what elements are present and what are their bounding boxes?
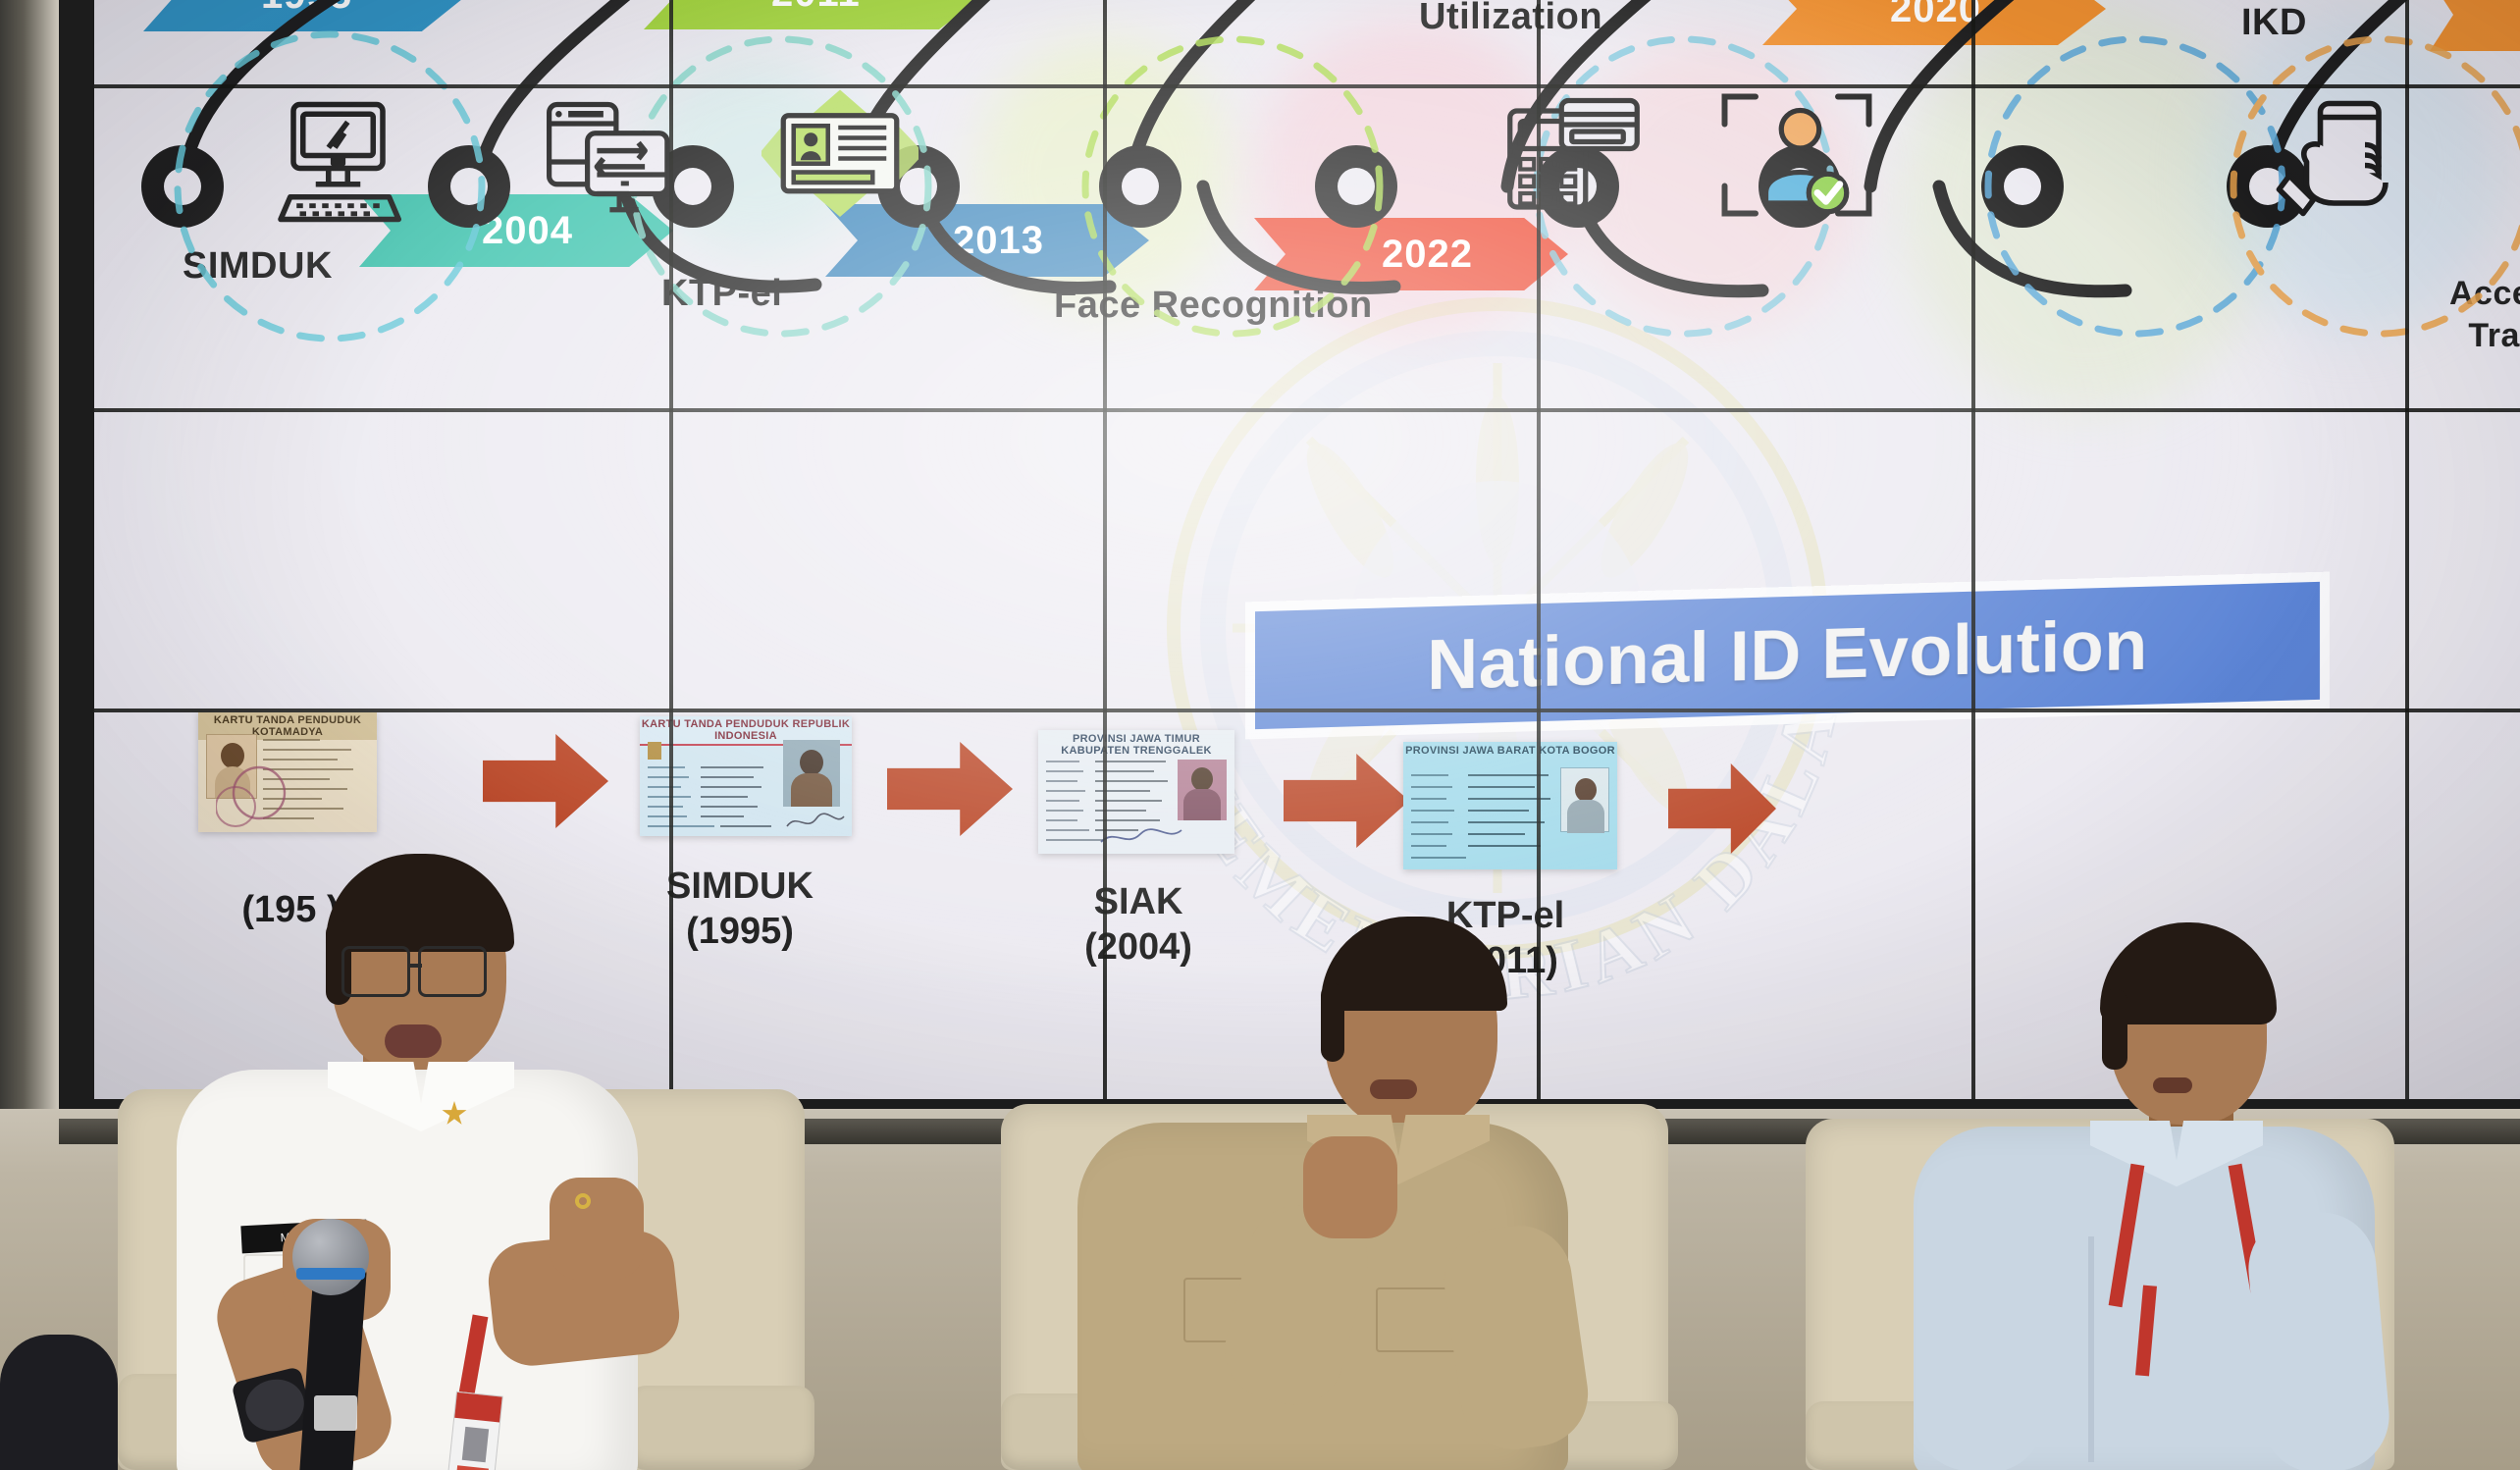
- panelist-right-arm-right: [2244, 1208, 2394, 1470]
- desktop-computer-icon: [261, 98, 428, 226]
- panelist-left-hair: [326, 854, 514, 952]
- videowall-seam-horizontal: [94, 84, 2520, 88]
- videowall-seam-vertical: [2405, 0, 2409, 1099]
- id-card-4-header: PROVINSI JAWA BARAT KOTA BOGOR: [1403, 742, 1617, 760]
- videowall-seam-horizontal: [94, 408, 2520, 412]
- panelist-left-ring: [575, 1193, 591, 1209]
- timeline-infographic: 1995 2011 2020 2004 2013 2022 Utilizat: [94, 0, 2520, 608]
- microphone-label: [314, 1395, 357, 1431]
- panelist-left-mouth: [385, 1024, 442, 1058]
- id-card-3-header: PROVINSI JAWA TIMUR KABUPATEN TRENGGALEK: [1038, 730, 1234, 760]
- evolution-arrow-3: [1284, 754, 1409, 848]
- evolution-arrow-1: [483, 734, 608, 828]
- panelist-left-id-badge: [446, 1391, 503, 1470]
- videowall-seam-horizontal: [94, 709, 2520, 712]
- panelist-center-hand-chin: [1303, 1136, 1397, 1238]
- id-card-4-photo: [1560, 767, 1609, 832]
- id-card-4-fields: [1409, 771, 1556, 864]
- id-card-1: KARTU TANDA PENDUDUK KOTAMADYA: [198, 712, 377, 832]
- panelist-right-mouth: [2153, 1077, 2192, 1093]
- id-card-2-fields: [646, 761, 773, 832]
- evolution-arrow-4: [1668, 763, 1776, 854]
- id-card-3-photo: [1178, 760, 1227, 820]
- data-sync-devices-icon: [538, 98, 685, 226]
- panelist-center-hair: [1321, 917, 1507, 1011]
- panelist-left-hand-gesture: [550, 1178, 644, 1280]
- panelist-center-mouth: [1370, 1079, 1417, 1099]
- evolution-arrow-2: [887, 742, 1013, 836]
- hand-holding-phone-icon: [2271, 93, 2418, 231]
- id-card-3-signature: [1097, 824, 1225, 850]
- id-card-1-stamp: [216, 763, 304, 830]
- microphone-head: [292, 1219, 369, 1295]
- panelist-center: [991, 913, 1639, 1470]
- face-recognition-icon: [1713, 86, 1880, 224]
- banner-title: National ID Evolution: [1427, 605, 2148, 707]
- id-card-2-photo: [783, 740, 840, 807]
- conference-room: KEMENTERIAN DALAM NEGERI: [0, 0, 2520, 1470]
- id-card-icon: [761, 86, 919, 224]
- id-card-3: PROVINSI JAWA TIMUR KABUPATEN TRENGGALEK: [1038, 730, 1234, 854]
- panelist-far-left-partial: [0, 1335, 147, 1470]
- panelist-right: [1796, 913, 2404, 1470]
- panelist-far-left-shoulder: [0, 1335, 118, 1470]
- panelist-left-glasses-right-lens: [418, 946, 487, 997]
- panelist-left-glasses-bridge: [408, 964, 422, 968]
- card-reader-terminal-icon: [1492, 90, 1649, 228]
- panelist-left-glasses-left-lens: [341, 946, 410, 997]
- id-card-2-signature: [783, 809, 848, 834]
- id-card-4: PROVINSI JAWA BARAT KOTA BOGOR: [1403, 742, 1617, 869]
- microphone-band: [296, 1268, 365, 1280]
- panelist-center-sideburn: [1321, 983, 1344, 1062]
- panelist-left: M. NUH: [118, 844, 765, 1470]
- panelist-right-sideburn: [2102, 989, 2127, 1070]
- panelist-right-arm-left: [1910, 1202, 2062, 1470]
- id-card-2-emblem: [648, 742, 661, 760]
- panelist-right-shirt-placket: [2088, 1236, 2094, 1462]
- timeline-connector-path: [94, 0, 2520, 608]
